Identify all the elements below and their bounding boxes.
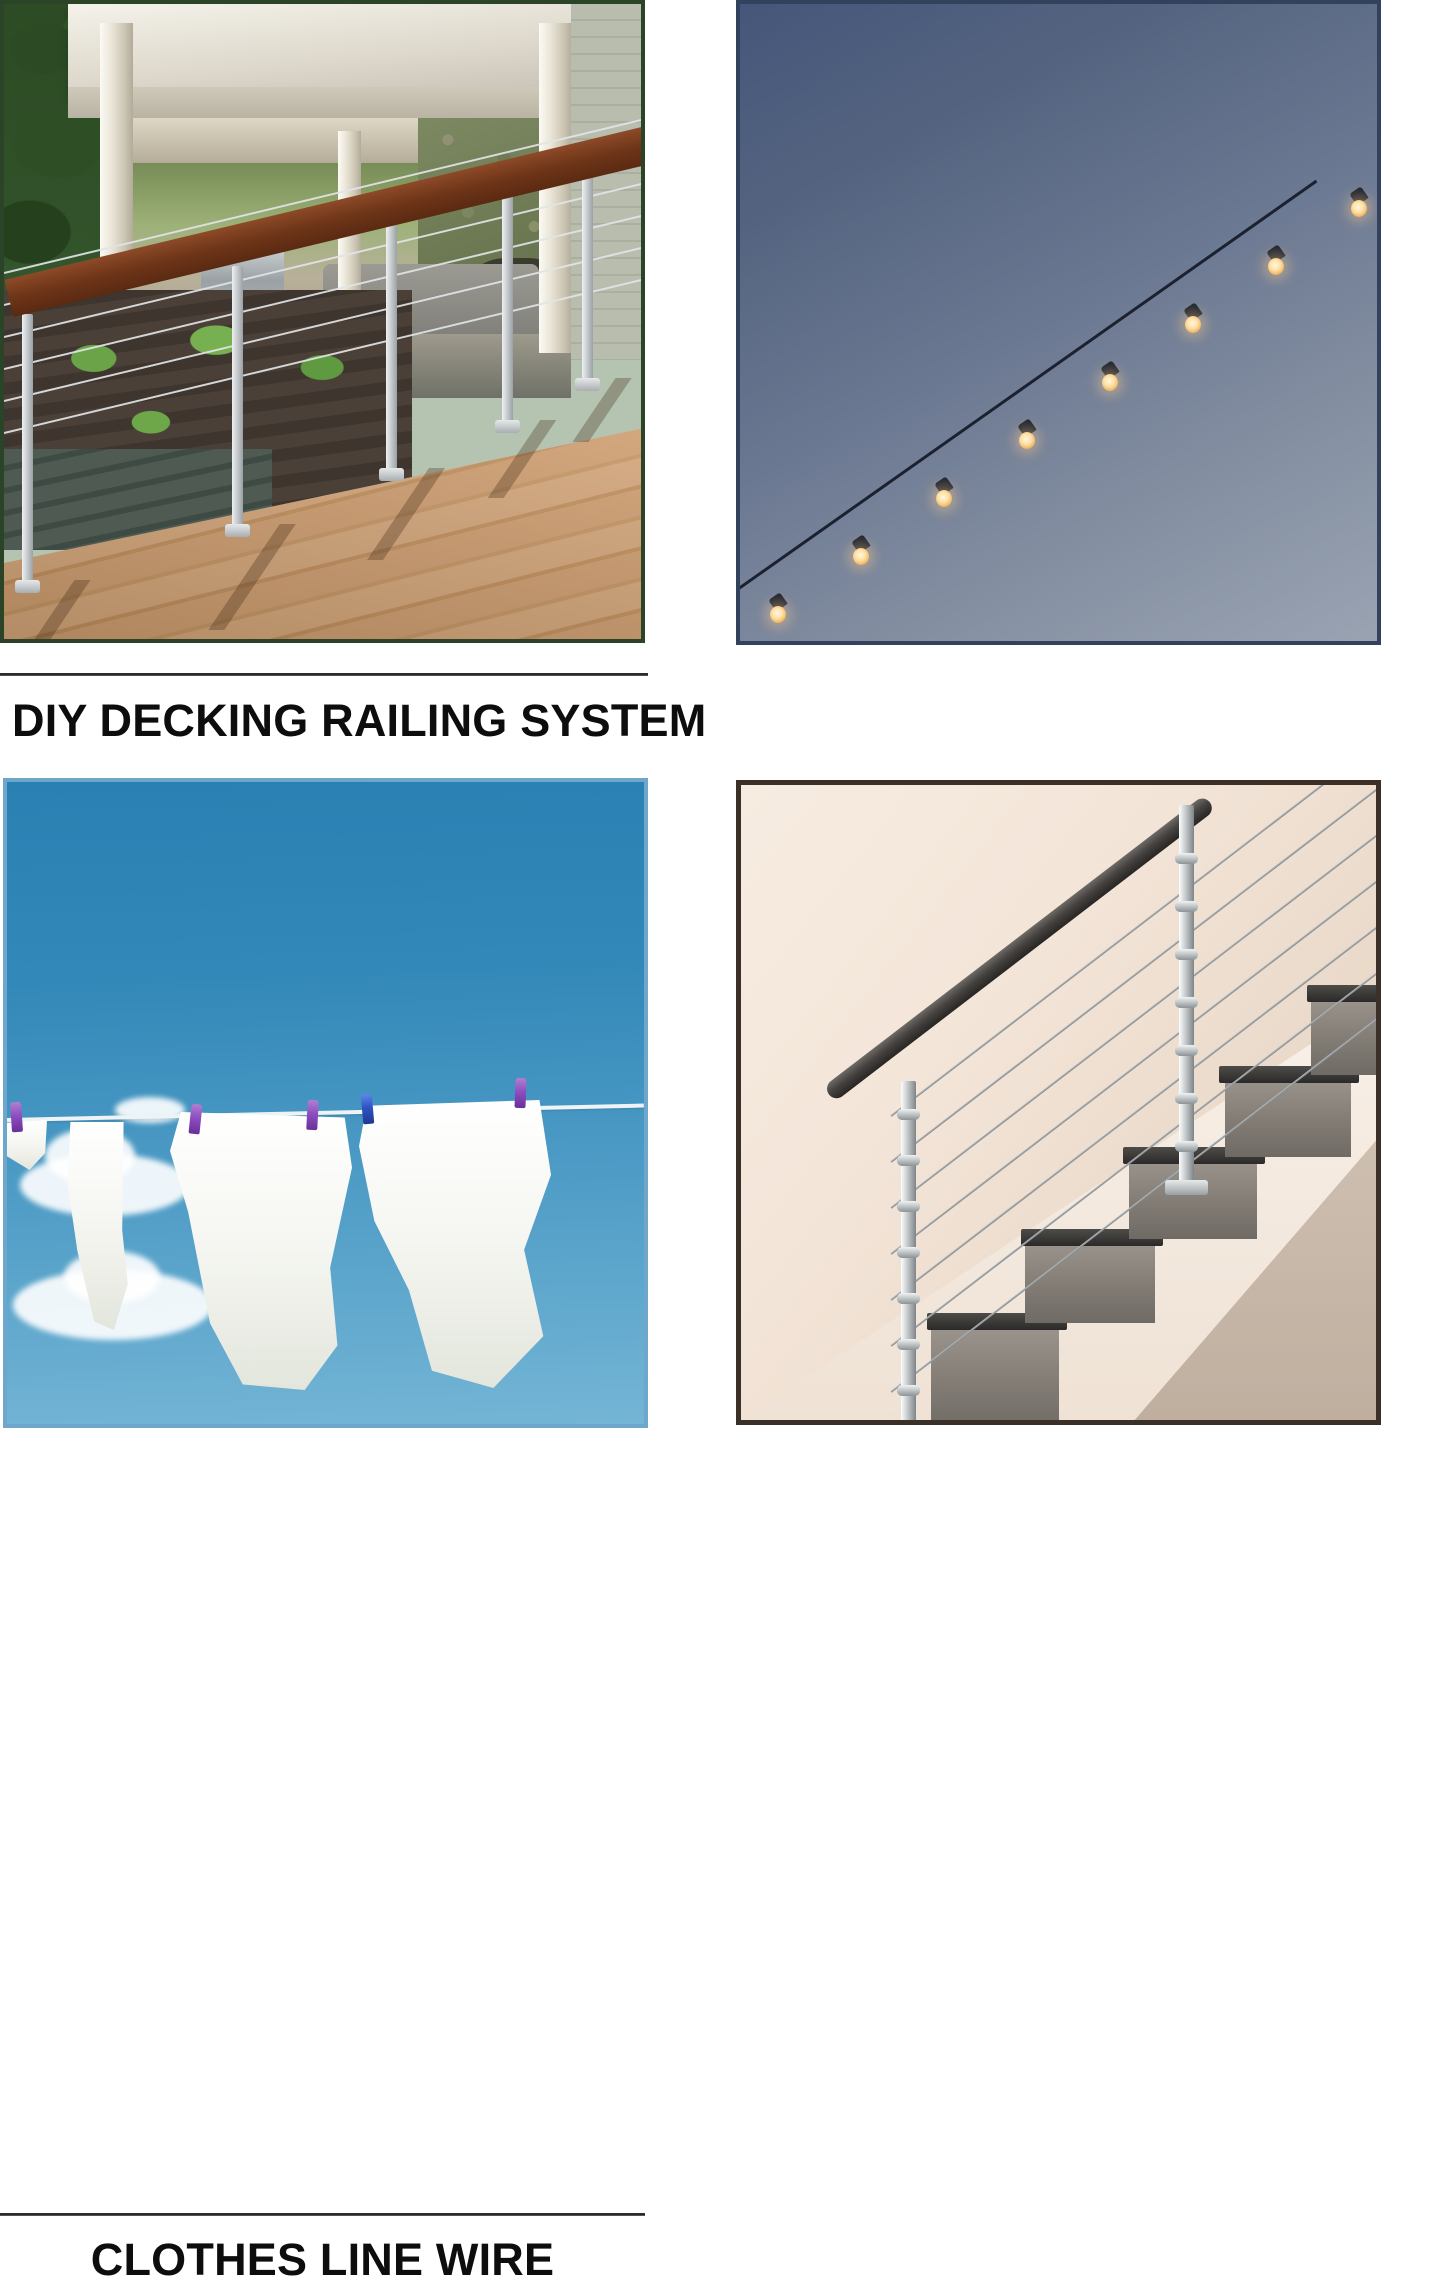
bulb-glass <box>1351 200 1367 217</box>
string-light-bulb <box>1185 316 1201 332</box>
string-light-bulb <box>1019 432 1035 448</box>
string-light-bulb <box>1268 258 1284 274</box>
post-base-plate <box>495 420 520 433</box>
photo-balustrades[interactable] <box>736 780 1381 1425</box>
photo-diy-decking-railing-system[interactable] <box>0 0 645 643</box>
clothes-peg-5 <box>514 1078 526 1108</box>
bulb-glass <box>1102 374 1118 391</box>
caption-rule <box>0 2213 645 2216</box>
cable-fitting <box>1175 997 1198 1008</box>
deck-railing-post <box>502 186 513 424</box>
cable-fitting <box>1175 1045 1198 1056</box>
string-light-bulb <box>1102 374 1118 390</box>
post-base-plate <box>379 468 404 481</box>
cable-fitting <box>897 1385 920 1396</box>
panel-diy-decking-railing-system[interactable]: DIY DECKING RAILING SYSTEM <box>0 0 725 770</box>
cable-fitting <box>1175 901 1198 912</box>
stair-riser-1 <box>931 1321 1059 1425</box>
post-base-plate <box>225 524 250 537</box>
cable-fitting <box>1175 1141 1198 1152</box>
balustrade-post-upper <box>1179 805 1194 1185</box>
balustrade-post-lower <box>901 1081 916 1425</box>
post-base-plate <box>15 580 40 593</box>
bulb-glass <box>1185 316 1201 333</box>
bulb-glass <box>936 490 952 507</box>
deck-roof-beam <box>68 87 590 119</box>
cable-fitting <box>1175 1093 1198 1104</box>
caption-block-diy-decking-railing-system: DIY DECKING RAILING SYSTEM <box>0 673 648 743</box>
post-base-plate <box>1165 1180 1208 1195</box>
bulb-glass <box>853 548 869 565</box>
photo-clothes-line-wire[interactable] <box>3 778 648 1428</box>
caption-label: CLOTHES LINE WIRE <box>0 2237 645 2282</box>
bulb-glass <box>1019 432 1035 449</box>
deck-scene <box>4 4 641 639</box>
deck-railing-post <box>582 160 593 382</box>
deck-roof-soffit <box>68 4 590 99</box>
string-light-bulb <box>936 490 952 506</box>
caption-rule <box>0 673 648 676</box>
string-light-bulb <box>770 606 786 622</box>
lights-twilight-sky <box>740 4 1377 641</box>
panel-outdoor-string-lights[interactable]: OUTDOOR STRING LIGHTS <box>725 0 1450 770</box>
cable-fitting <box>1175 853 1198 864</box>
cable-fitting <box>897 1293 920 1304</box>
bulb-glass <box>770 606 786 623</box>
panel-balustrades[interactable]: BALUSTRADES <box>725 770 1450 1500</box>
panel-clothes-line-wire[interactable]: CLOTHES LINE WIRE <box>0 770 725 1500</box>
clothes-peg-1 <box>10 1102 23 1133</box>
cable-fitting <box>897 1155 920 1166</box>
cable-fitting <box>897 1247 920 1258</box>
string-light-bulb <box>853 548 869 564</box>
deck-railing-post <box>22 314 33 584</box>
cable-fitting <box>1175 949 1198 960</box>
cable-fitting <box>897 1339 920 1350</box>
caption-label: DIY DECKING RAILING SYSTEM <box>0 698 648 743</box>
product-application-grid: DIY DECKING RAILING SYSTEM OUTDOOR STRIN… <box>0 0 1450 1500</box>
photo-outdoor-string-lights[interactable] <box>736 0 1381 645</box>
post-base-plate <box>575 378 600 391</box>
stair-riser-2 <box>1025 1237 1155 1323</box>
clothes-peg-3 <box>306 1100 319 1131</box>
bulb-glass <box>1268 258 1284 275</box>
string-light-bulb <box>1351 200 1367 216</box>
cable-fitting <box>897 1201 920 1212</box>
cable-fitting <box>897 1109 920 1120</box>
deck-railing-post <box>386 222 397 472</box>
deck-railing-post <box>232 266 243 528</box>
caption-block-clothes-line-wire: CLOTHES LINE WIRE <box>0 2213 645 2282</box>
